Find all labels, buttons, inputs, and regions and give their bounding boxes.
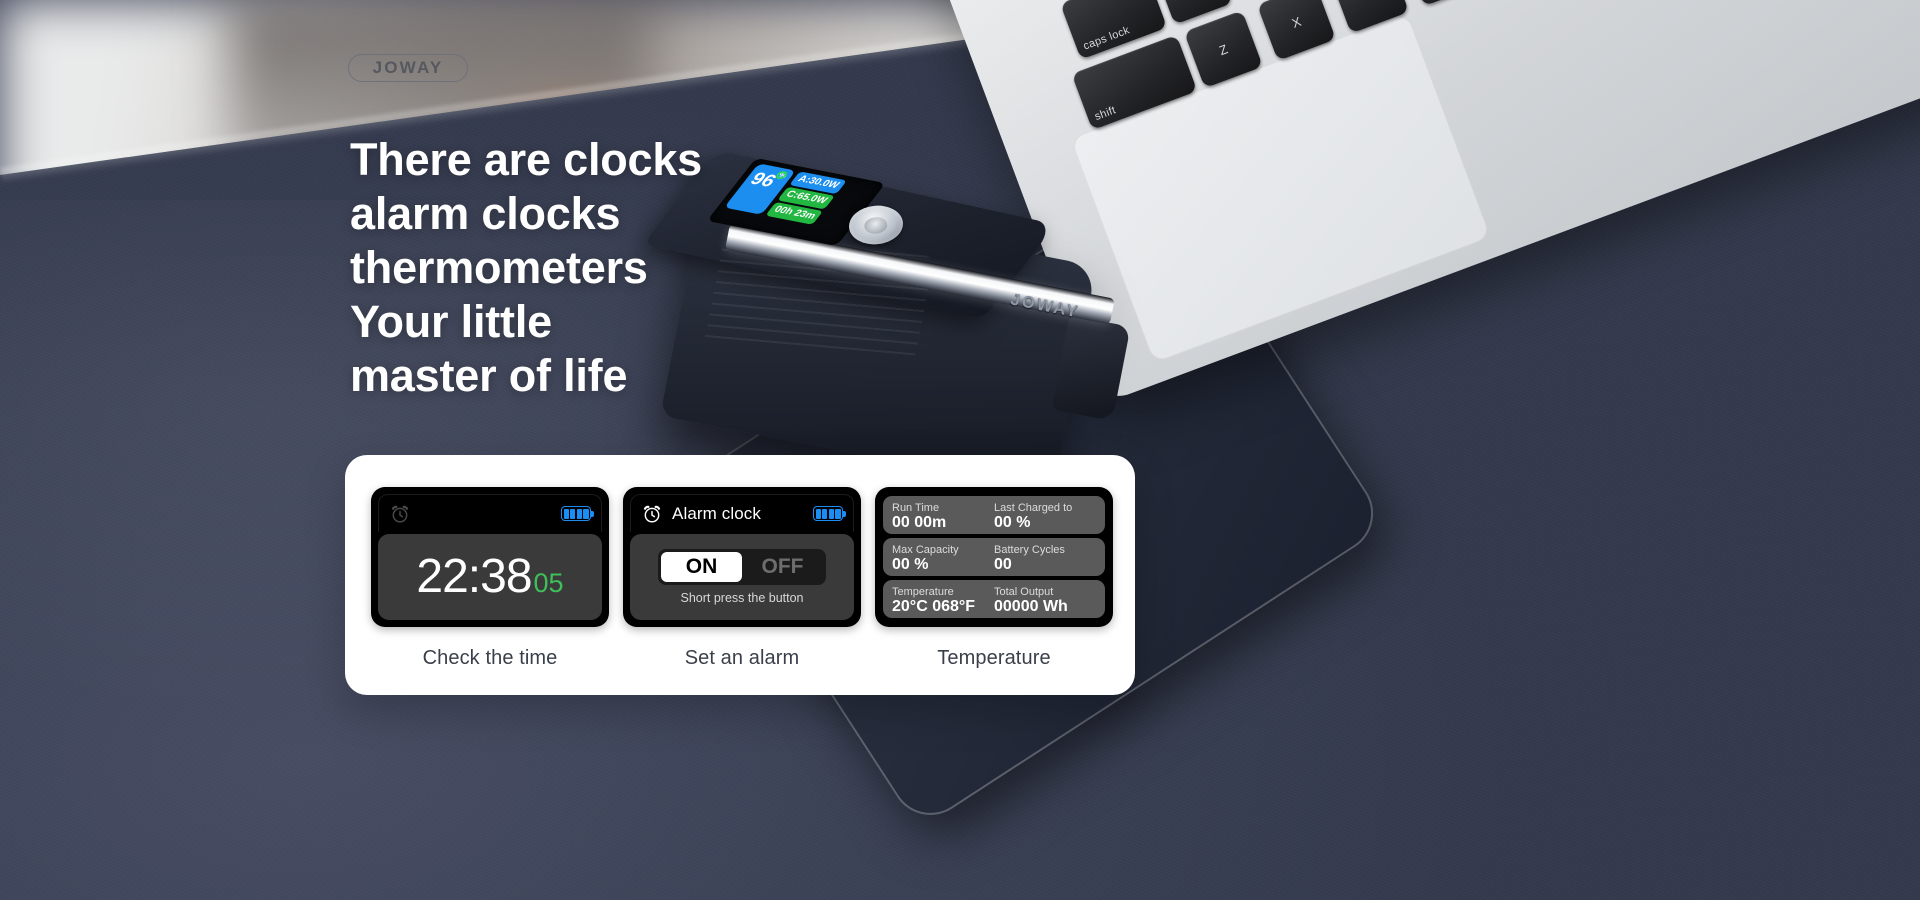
stat-value: 00 % [994, 514, 1096, 531]
battery-icon [561, 506, 591, 521]
stat-label: Battery Cycles [994, 544, 1096, 556]
stat-max-capacity: Max Capacity 00 % [892, 541, 994, 576]
feature-caption: Set an alarm [685, 647, 800, 670]
key-v[interactable]: V [1403, 0, 1482, 6]
alarm-toggle-off[interactable]: OFF [742, 552, 823, 582]
stat-row: Temperature 20°C 068°F Total Output 0000… [883, 580, 1105, 618]
stat-value: 00000 Wh [994, 598, 1096, 615]
feature-panel: 22:38 05 Check the time Alarm clock [345, 455, 1135, 695]
stat-value: 00 00m [892, 514, 994, 531]
stat-value: 00 % [892, 556, 994, 573]
feature-caption: Check the time [423, 647, 558, 670]
feature-caption: Temperature [937, 647, 1050, 670]
alarm-toggle[interactable]: ON OFF [658, 549, 826, 585]
alarm-screen-header: Alarm clock [630, 494, 854, 532]
battery-icon [813, 506, 843, 521]
alarm-screen: Alarm clock ON OFF Short press the butto… [623, 487, 861, 627]
stat-row: Run Time 00 00m Last Charged to 00 % [883, 496, 1105, 534]
clock-screen-header [378, 494, 602, 532]
page-title: There are clocks alarm clocks thermomete… [350, 133, 970, 403]
stat-label: Max Capacity [892, 544, 994, 556]
brand-logo-text: JOWAY [373, 58, 444, 78]
stat-battery-cycles: Battery Cycles 00 [994, 541, 1096, 576]
headline-line-3: thermometers [350, 241, 970, 295]
stat-label: Total Output [994, 586, 1096, 598]
scene: !1@2#3$4%5^6&7*8(9tabQWERTYUIOcaps lockA… [0, 0, 1920, 900]
headline-line-4: Your little [350, 295, 970, 349]
stat-label: Temperature [892, 586, 994, 598]
alarm-toggle-on[interactable]: ON [661, 552, 742, 582]
headline-line-2: alarm clocks [350, 187, 970, 241]
stats-screen: Run Time 00 00m Last Charged to 00 % Max… [875, 487, 1113, 627]
feature-set-an-alarm: Alarm clock ON OFF Short press the butto… [623, 487, 861, 695]
stat-temperature: Temperature 20°C 068°F [892, 583, 994, 618]
stat-total-output: Total Output 00000 Wh [994, 583, 1096, 618]
stat-label: Last Charged to [994, 502, 1096, 514]
brand-logo: JOWAY [348, 54, 468, 82]
feature-check-the-time: 22:38 05 Check the time [371, 487, 609, 695]
stat-value: 00 [994, 556, 1096, 573]
stat-label: Run Time [892, 502, 994, 514]
stat-value: 20°C 068°F [892, 598, 994, 615]
alarm-clock-icon [389, 503, 411, 525]
alarm-hint-text: Short press the button [681, 591, 804, 605]
stat-last-charged-to: Last Charged to 00 % [994, 499, 1096, 534]
stat-run-time: Run Time 00 00m [892, 499, 994, 534]
alarm-screen-title: Alarm clock [672, 504, 804, 524]
feature-temperature: Run Time 00 00m Last Charged to 00 % Max… [875, 487, 1113, 695]
clock-seconds: 05 [534, 570, 564, 597]
clock-screen: 22:38 05 [371, 487, 609, 627]
alarm-screen-body: ON OFF Short press the button [630, 534, 854, 620]
headline-line-5: master of life [350, 349, 970, 403]
alarm-clock-icon [641, 503, 663, 525]
stat-row: Max Capacity 00 % Battery Cycles 00 [883, 538, 1105, 576]
clock-hours-minutes: 22:38 [416, 553, 531, 601]
headline-line-1: There are clocks [350, 133, 970, 187]
clock-readout: 22:38 05 [416, 553, 563, 601]
clock-screen-body: 22:38 05 [378, 534, 602, 620]
laptop-keyboard: !1@2#3$4%5^6&7*8(9tabQWERTYUIOcaps lockA… [989, 0, 1920, 117]
